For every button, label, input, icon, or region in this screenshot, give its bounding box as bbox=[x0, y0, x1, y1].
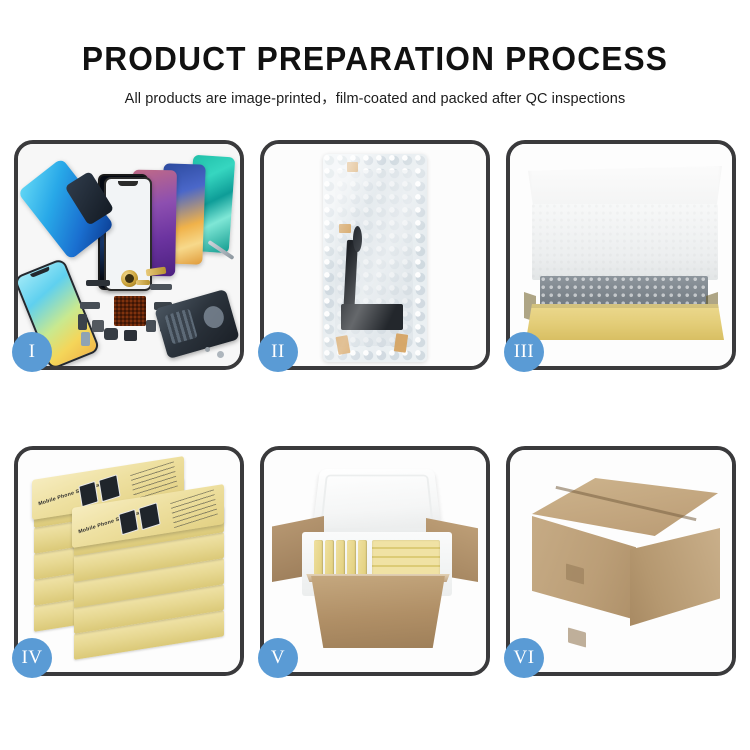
box-stack: Mobile Phone Spare Parts Mobile Phone Sp… bbox=[32, 472, 232, 662]
step-1-image bbox=[18, 144, 240, 366]
component-part bbox=[124, 330, 137, 341]
gold-flex-cable bbox=[136, 280, 150, 285]
phone-print bbox=[118, 509, 138, 536]
step-badge-6: VI bbox=[504, 638, 544, 678]
styrofoam-lid bbox=[311, 469, 442, 538]
component-part bbox=[81, 332, 90, 346]
component-part bbox=[150, 284, 172, 290]
step-panel-3: III bbox=[506, 140, 736, 370]
header: PRODUCT PREPARATION PROCESS All products… bbox=[0, 0, 750, 108]
shipping-carton-open bbox=[302, 576, 454, 648]
step-badge-3: III bbox=[504, 332, 544, 372]
carton-side-face bbox=[630, 528, 720, 626]
phone-print bbox=[138, 502, 160, 530]
step-4-image: Mobile Phone Spare Parts Mobile Phone Sp… bbox=[18, 450, 240, 672]
component-part bbox=[78, 314, 87, 330]
camera-ring-part bbox=[121, 270, 138, 287]
step-2-image bbox=[264, 144, 486, 366]
kraft-box-base bbox=[526, 304, 724, 340]
step-3-image bbox=[510, 144, 732, 366]
page-title: PRODUCT PREPARATION PROCESS bbox=[15, 40, 735, 78]
step-badge-2: II bbox=[258, 332, 298, 372]
carton-tape-patch bbox=[568, 627, 586, 647]
carton-front-face bbox=[532, 516, 636, 620]
phone-print bbox=[98, 474, 120, 502]
step-5-image bbox=[264, 450, 486, 672]
component-part bbox=[92, 320, 104, 332]
product-preparation-infographic: PRODUCT PREPARATION PROCESS All products… bbox=[0, 0, 750, 750]
process-steps-grid: I II bbox=[14, 140, 736, 676]
component-part bbox=[80, 302, 100, 309]
step-panel-5: V bbox=[260, 446, 490, 676]
step-panel-4: Mobile Phone Spare Parts Mobile Phone Sp… bbox=[14, 446, 244, 676]
step-badge-5: V bbox=[258, 638, 298, 678]
step-6-image bbox=[510, 450, 732, 672]
phone-back-housing bbox=[154, 289, 239, 359]
box-spec-lines bbox=[170, 489, 218, 528]
component-part bbox=[146, 320, 156, 332]
screw-part bbox=[217, 351, 224, 358]
plastic-sheen bbox=[323, 154, 427, 362]
copper-chip-part bbox=[114, 296, 146, 326]
page-subtitle: All products are image-printed，film-coat… bbox=[0, 87, 750, 108]
screw-part bbox=[205, 347, 210, 352]
step-badge-1: I bbox=[12, 332, 52, 372]
step-badge-4: IV bbox=[12, 638, 52, 678]
step-panel-2: II bbox=[260, 140, 490, 370]
bubble-wrap-package bbox=[323, 154, 427, 362]
component-part bbox=[104, 328, 118, 340]
component-part bbox=[86, 280, 110, 286]
step-panel-1: I bbox=[14, 140, 244, 370]
white-foam-liner bbox=[532, 204, 718, 280]
step-panel-6: VI bbox=[506, 446, 736, 676]
